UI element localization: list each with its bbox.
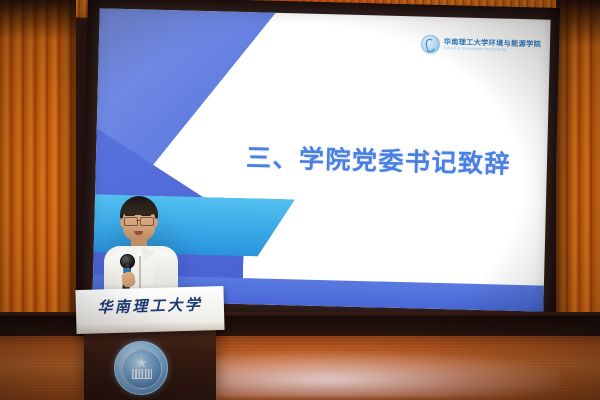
left-slat-wall	[0, 0, 76, 345]
right-slat-wall	[556, 0, 600, 350]
speaker-glasses-left	[124, 217, 138, 226]
podium-nameplate-text: 华南理工大学	[76, 293, 225, 318]
photo-scene: 三、学院党委书记致辞 华南理工大学环境与能源学院 School of Envir…	[0, 0, 600, 400]
slide-logo-text: 华南理工大学环境与能源学院 School of Environment and …	[443, 38, 541, 53]
right-wall-shadow	[556, 0, 600, 46]
seal-building-icon	[132, 369, 152, 379]
speaker-brow-left	[125, 214, 135, 216]
university-seal	[114, 341, 168, 395]
university-seal-inner	[122, 349, 162, 389]
slide-logo: 华南理工大学环境与能源学院 School of Environment and …	[420, 34, 541, 56]
left-wall-shadow	[0, 0, 76, 40]
speaker-glasses-right	[140, 217, 154, 226]
podium	[84, 325, 216, 400]
slide-title: 三、学院党委书记致辞	[246, 138, 537, 181]
podium-nameplate: 华南理工大学	[75, 286, 224, 334]
environment-energy-emblem-icon	[420, 34, 439, 53]
speaker-brow-right	[141, 214, 151, 216]
seal-flower-icon	[136, 358, 147, 369]
speaker-hair-front	[121, 201, 157, 215]
speaker-glasses-bridge	[136, 220, 140, 221]
speaker-hand	[121, 271, 136, 288]
